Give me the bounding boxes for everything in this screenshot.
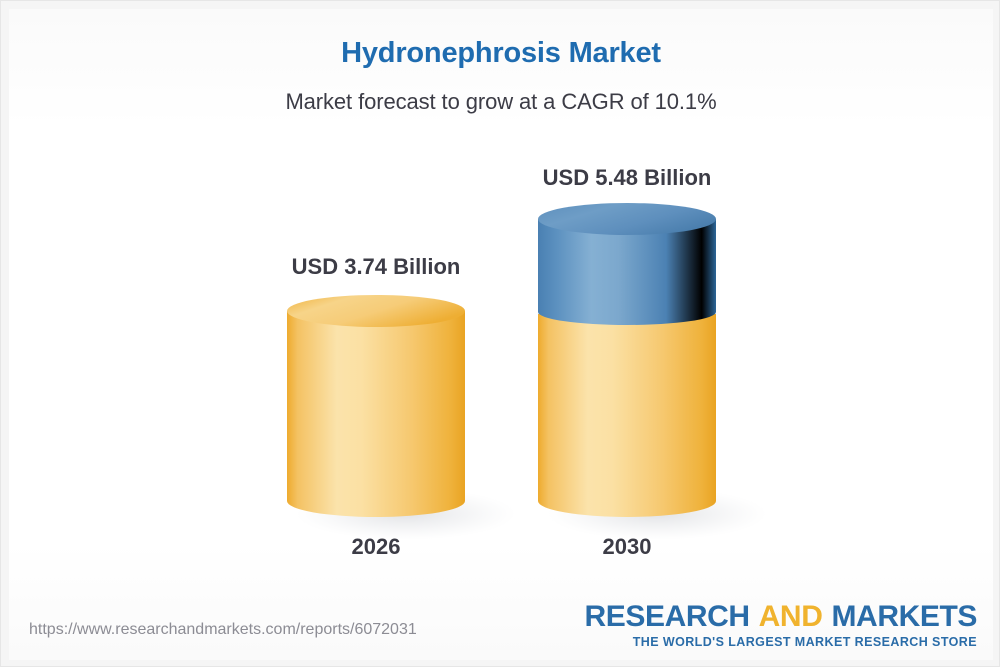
value-label-2030: USD 5.48 Billion (527, 165, 727, 191)
bar-body (287, 311, 465, 517)
research-and-markets-logo[interactable]: RESEARCHANDMARKETS THE WORLD'S LARGEST M… (585, 601, 977, 649)
bar-2030[interactable] (538, 203, 767, 540)
bar-segment-base (538, 314, 716, 517)
category-label-2030: 2030 (527, 534, 727, 560)
logo-wordmark: RESEARCHANDMARKETS (585, 601, 977, 633)
category-label-2026: 2026 (276, 534, 476, 560)
infographic-canvas: Hydronephrosis Market Market forecast to… (0, 0, 1000, 667)
bar-chart: USD 3.74 Billion 2026 USD 5.48 Billion 2… (1, 1, 1000, 667)
logo-word-markets: MARKETS (831, 600, 977, 633)
logo-word-and: AND (759, 600, 823, 633)
cylinder-bars-svg (1, 1, 1000, 667)
source-url[interactable]: https://www.researchandmarkets.com/repor… (29, 621, 417, 639)
bar-top-cap (538, 203, 716, 235)
value-label-2026: USD 3.74 Billion (276, 254, 476, 280)
bar-2026[interactable] (287, 295, 516, 540)
bar-top-cap (287, 295, 465, 327)
logo-word-research: RESEARCH (585, 600, 750, 633)
logo-tagline: THE WORLD'S LARGEST MARKET RESEARCH STOR… (585, 635, 977, 649)
